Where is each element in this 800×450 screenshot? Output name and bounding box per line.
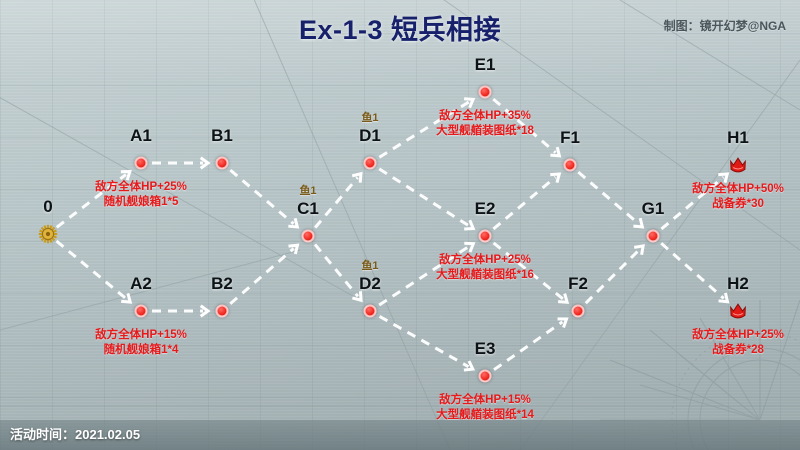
- route-edge-c1-to-d2: [315, 244, 358, 296]
- start-sun-icon: [38, 224, 58, 244]
- node-marker-dot: [364, 157, 377, 170]
- node-reward-text: 敌方全体HP+35%大型舰艏装图纸*18: [436, 104, 534, 139]
- node-reward-line: 随机舰娘箱1*4: [95, 343, 187, 358]
- node-reward-text: 敌方全体HP+15%大型舰艏装图纸*14: [436, 388, 534, 423]
- map-node-a2[interactable]: A2敌方全体HP+15%随机舰娘箱1*4: [129, 299, 153, 323]
- node-label: E2: [475, 199, 496, 219]
- event-time-label: 活动时间：2021.02.05: [10, 424, 140, 443]
- map-node-c1[interactable]: C1鱼1: [296, 224, 320, 248]
- node-marker-dot: [572, 305, 585, 318]
- boss-crown-icon: [729, 302, 748, 320]
- map-node-d2[interactable]: D2鱼1: [358, 299, 382, 323]
- map-node-e2[interactable]: E2敌方全体HP+25%大型舰艏装图纸*16: [473, 224, 497, 248]
- node-reward-text: 敌方全体HP+50%战备券*30: [692, 177, 784, 212]
- route-edge-b2-to-c1: [230, 248, 293, 303]
- node-reward-line: 敌方全体HP+15%: [436, 393, 534, 408]
- node-label: B2: [211, 274, 233, 294]
- map-node-f2[interactable]: F2: [566, 299, 590, 323]
- route-edge-e3-to-f2: [494, 322, 562, 370]
- map-node-e3[interactable]: E3敌方全体HP+15%大型舰艏装图纸*14: [473, 364, 497, 388]
- node-reward-line: 随机舰娘箱1*5: [95, 195, 187, 210]
- route-edge-b1-to-c1: [230, 170, 293, 224]
- map-canvas: Ex-1-3 短兵相接 制图：镜开幻梦@NGA 0A1敌方全体HP+25%随机舰…: [0, 0, 800, 450]
- route-edge-d2-to-e3: [380, 316, 469, 366]
- route-edge-e2-to-f1: [493, 177, 555, 229]
- node-reward-line: 敌方全体HP+50%: [692, 182, 784, 197]
- node-reward-line: 敌方全体HP+25%: [436, 253, 534, 268]
- node-label: E3: [475, 339, 496, 359]
- node-label: 0: [43, 197, 52, 217]
- credit-text: 制图：镜开幻梦@NGA: [664, 17, 786, 34]
- node-reward-text: 敌方全体HP+15%随机舰娘箱1*4: [95, 323, 187, 358]
- route-edge-d1-to-e2: [379, 169, 469, 226]
- node-sub-label: 鱼1: [299, 182, 316, 198]
- map-node-b1[interactable]: B1: [210, 151, 234, 175]
- map-node-h1[interactable]: H1敌方全体HP+50%战备券*30: [726, 153, 750, 177]
- node-label: D2: [359, 274, 381, 294]
- node-marker-dot: [479, 86, 492, 99]
- route-edge-f1-to-g1: [578, 172, 638, 223]
- route-edge-f2-to-g1: [586, 249, 640, 303]
- node-reward-line: 敌方全体HP+15%: [95, 328, 187, 343]
- node-marker-dot: [564, 159, 577, 172]
- node-reward-line: 敌方全体HP+25%: [95, 180, 187, 195]
- map-node-start[interactable]: 0: [36, 222, 60, 246]
- node-reward-line: 敌方全体HP+25%: [692, 328, 784, 343]
- route-paths: [0, 0, 800, 450]
- node-marker-dot: [479, 370, 492, 383]
- node-label: A2: [130, 274, 152, 294]
- map-node-g1[interactable]: G1: [641, 224, 665, 248]
- node-marker-dot: [135, 305, 148, 318]
- node-reward-line: 大型舰艏装图纸*16: [436, 268, 534, 283]
- node-label: C1: [297, 199, 319, 219]
- map-node-b2[interactable]: B2: [210, 299, 234, 323]
- node-marker-dot: [216, 157, 229, 170]
- map-node-f1[interactable]: F1: [558, 153, 582, 177]
- node-marker-dot: [479, 230, 492, 243]
- node-marker-dot: [364, 305, 377, 318]
- map-node-e1[interactable]: E1敌方全体HP+35%大型舰艏装图纸*18: [473, 80, 497, 104]
- node-sub-label: 鱼1: [361, 257, 378, 273]
- map-node-a1[interactable]: A1敌方全体HP+25%随机舰娘箱1*5: [129, 151, 153, 175]
- node-reward-line: 战备券*30: [692, 197, 784, 212]
- node-label: G1: [642, 199, 665, 219]
- route-edge-g1-to-h2: [661, 243, 724, 298]
- node-marker-dot: [135, 157, 148, 170]
- map-node-d1[interactable]: D1鱼1: [358, 151, 382, 175]
- node-label: H2: [727, 274, 749, 294]
- node-sub-label: 鱼1: [361, 109, 378, 125]
- node-marker-dot: [302, 230, 315, 243]
- node-reward-line: 战备券*28: [692, 343, 784, 358]
- node-marker-dot: [647, 230, 660, 243]
- node-label: D1: [359, 126, 381, 146]
- node-marker-dot: [216, 305, 229, 318]
- node-reward-text: 敌方全体HP+25%战备券*28: [692, 323, 784, 358]
- map-node-h2[interactable]: H2敌方全体HP+25%战备券*28: [726, 299, 750, 323]
- node-label: A1: [130, 126, 152, 146]
- node-reward-text: 敌方全体HP+25%大型舰艏装图纸*16: [436, 248, 534, 283]
- route-edge-start-to-a2: [56, 241, 126, 299]
- node-label: E1: [475, 55, 496, 75]
- boss-crown-icon: [729, 156, 748, 174]
- route-edge-c1-to-d1: [315, 177, 358, 227]
- node-label: F2: [568, 274, 588, 294]
- node-reward-line: 大型舰艏装图纸*18: [436, 124, 534, 139]
- node-label: B1: [211, 126, 233, 146]
- node-label: F1: [560, 128, 580, 148]
- node-reward-line: 敌方全体HP+35%: [436, 109, 534, 124]
- node-reward-text: 敌方全体HP+25%随机舰娘箱1*5: [95, 175, 187, 210]
- node-label: H1: [727, 128, 749, 148]
